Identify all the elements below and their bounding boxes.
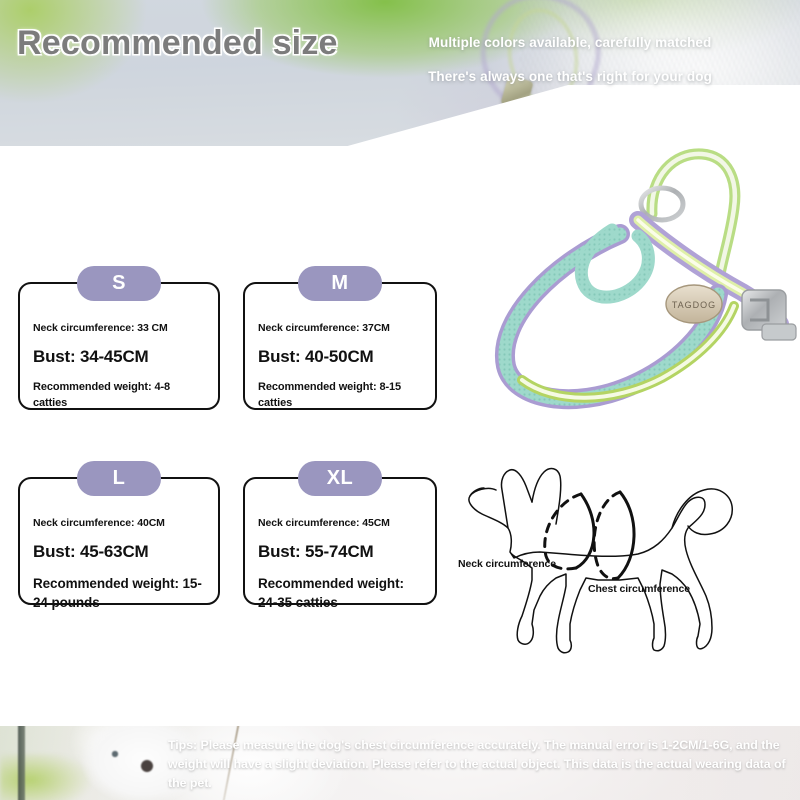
recommended-weight-value: Recommended weight: 8-15 catties — [258, 380, 422, 412]
brand-tag-label: TAGDOG — [672, 300, 716, 310]
dog-outline-illustration — [448, 428, 793, 680]
neck-circumference-value: Neck circumference: 33 CM — [33, 322, 205, 334]
size-badge-xl: XL — [298, 461, 382, 496]
dog-measurement-diagram: Neck circumference Chest circumference — [448, 428, 793, 680]
size-card-m[interactable]: M Neck circumference: 37CM Bust: 40-50CM… — [243, 282, 437, 410]
chest-circumference-ring — [594, 492, 634, 579]
product-photo-harness: TAGDOG — [462, 142, 800, 422]
size-card-xl[interactable]: XL Neck circumference: 45CM Bust: 55-74C… — [243, 477, 437, 605]
hero-subtitle: Multiple colors available, carefully mat… — [360, 0, 780, 84]
neck-circumference-label: Neck circumference — [458, 558, 556, 570]
hero-subtitle-line-1: Multiple colors available, carefully mat… — [360, 35, 780, 50]
neck-circumference-value: Neck circumference: 37CM — [258, 322, 422, 334]
neck-circumference-value: Neck circumference: 40CM — [33, 517, 205, 529]
bust-value: Bust: 45-63CM — [33, 542, 205, 562]
bust-value: Bust: 40-50CM — [258, 347, 422, 367]
dog-ear-back — [532, 469, 561, 524]
harness-illustration: TAGDOG — [462, 142, 800, 422]
page-title: Recommended size — [17, 21, 347, 66]
hero-subtitle-line-2: There's always one that's right for your… — [360, 69, 780, 84]
size-card-l[interactable]: L Neck circumference: 40CM Bust: 45-63CM… — [18, 477, 220, 605]
size-card-s[interactable]: S Neck circumference: 33 CM Bust: 34-45C… — [18, 282, 220, 410]
pole-blur — [18, 726, 25, 800]
white-diagonal-wedge — [0, 85, 800, 146]
recommended-weight-value: Recommended weight: 24-35 catties — [258, 575, 422, 613]
tips-text: Tips: Please measure the dog's chest cir… — [168, 736, 788, 793]
recommended-weight-value: Recommended weight: 15-24 pounds — [33, 575, 205, 613]
recommended-weight-value: Recommended weight: 4-8 catties — [33, 380, 205, 412]
size-card-body: Neck circumference: 37CM Bust: 40-50CM R… — [245, 284, 435, 422]
neck-circumference-value: Neck circumference: 45CM — [258, 517, 422, 529]
bust-value: Bust: 34-45CM — [33, 347, 205, 367]
size-guide-page: Recommended size Multiple colors availab… — [0, 0, 800, 800]
bust-value: Bust: 55-74CM — [258, 542, 422, 562]
size-badge-m: M — [298, 266, 382, 301]
dog-ear-front — [501, 470, 532, 528]
buckle-icon — [742, 290, 796, 340]
size-card-body: Neck circumference: 40CM Bust: 45-63CM R… — [20, 479, 218, 623]
size-card-body: Neck circumference: 45CM Bust: 55-74CM R… — [245, 479, 435, 623]
chest-circumference-label: Chest circumference — [588, 583, 690, 595]
size-badge-l: L — [77, 461, 161, 496]
size-card-body: Neck circumference: 33 CM Bust: 34-45CM … — [20, 284, 218, 422]
size-badge-s: S — [77, 266, 161, 301]
